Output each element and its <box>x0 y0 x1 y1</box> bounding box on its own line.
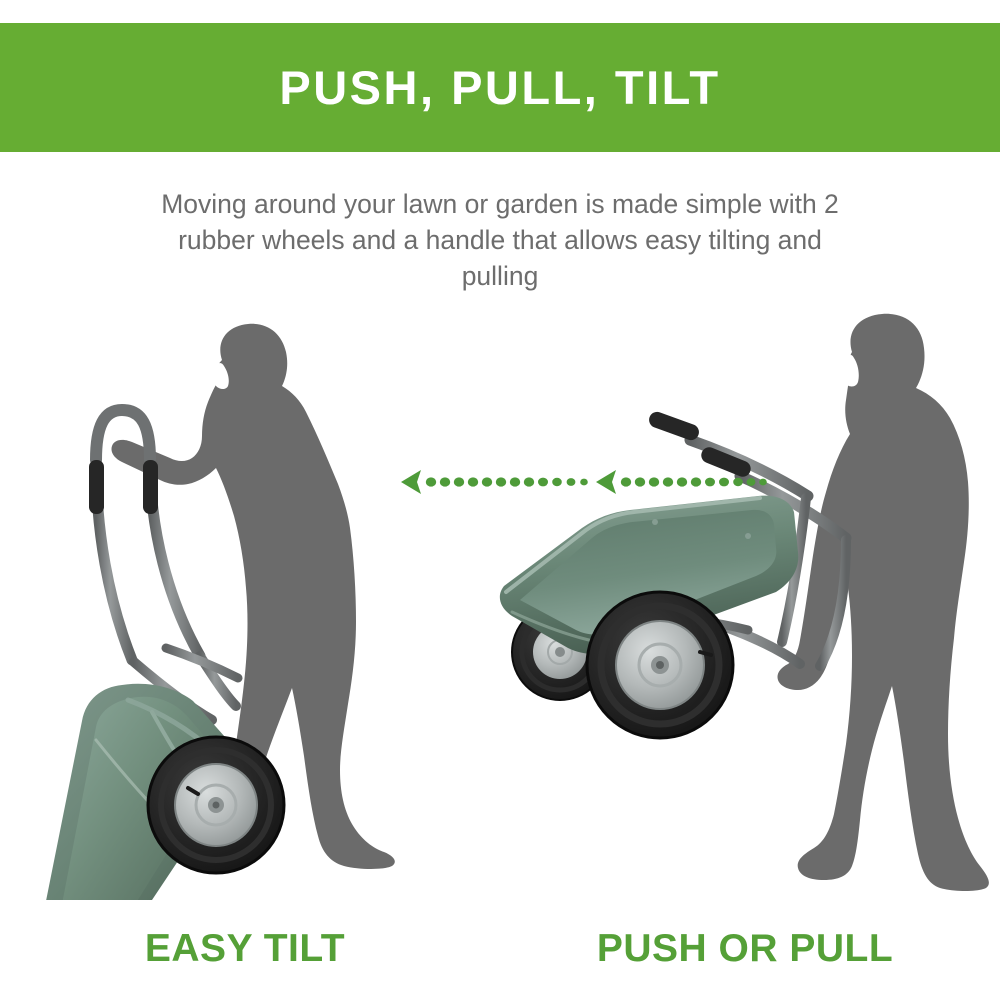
handle-grip-right <box>143 460 158 514</box>
handle-grip-back <box>647 410 701 443</box>
wheel-left-cart <box>148 737 284 873</box>
motion-arrow-indicator <box>395 465 775 501</box>
arrow-segment-1 <box>401 470 588 494</box>
left-scene <box>43 324 395 900</box>
arrow-head-icon <box>596 470 616 494</box>
wheel-right-cart-front <box>587 592 733 738</box>
handle-grip-left <box>89 460 104 514</box>
page-title: PUSH, PULL, TILT <box>279 64 720 111</box>
caption-easy-tilt: EASY TILT <box>60 925 430 973</box>
header-banner: PUSH, PULL, TILT <box>0 23 1000 152</box>
subtitle-text: Moving around your lawn or garden is mad… <box>150 186 850 294</box>
arrow-head-icon <box>401 470 421 494</box>
person-silhouette-pulling <box>777 314 988 891</box>
arrow-segment-2 <box>596 470 767 494</box>
right-scene <box>500 314 989 891</box>
caption-push-or-pull: PUSH OR PULL <box>560 925 930 973</box>
illustration-stage <box>0 300 1000 900</box>
